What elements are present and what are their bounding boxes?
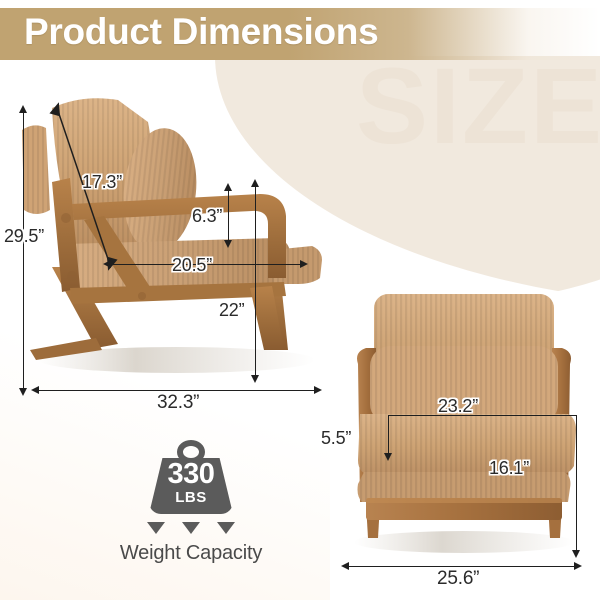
arrowhead-up-armrest-height: [224, 183, 232, 191]
dim-line-seat-width: [388, 415, 576, 416]
dim-label-seat-width: 23.2”: [438, 396, 478, 417]
dim-label-overall-height: 29.5”: [4, 226, 44, 247]
triangle-down-icon: [217, 522, 235, 534]
arrowhead-down-cushion-thickness: [384, 453, 392, 461]
size-watermark: SIZE: [356, 52, 600, 160]
product-dimensions-infographic: SIZE Product Dimensions: [0, 0, 600, 600]
dim-line-armrest-height: [228, 190, 229, 243]
arrowhead-right-overall-width: [574, 562, 582, 570]
arrowhead-up-overall-height: [19, 105, 27, 113]
dim-label-arm-to-floor: 22”: [219, 300, 244, 321]
arrowhead-up-arm-to-floor: [251, 179, 259, 187]
dim-label-seat-depth: 20.5”: [172, 255, 212, 276]
triangle-down-icon: [182, 522, 200, 534]
dim-label-backrest-height: 17.3”: [82, 172, 122, 193]
dim-line-arm-to-floor: [255, 186, 256, 378]
triangle-down-icon: [147, 522, 165, 534]
arrowhead-left-overall-width: [341, 562, 349, 570]
dim-label-seat-height: 16.1”: [489, 458, 529, 479]
arrowhead-right-seat-depth: [300, 260, 308, 268]
dim-label-overall-width: 25.6”: [437, 568, 479, 590]
weight-capacity-block: 330 LBS Weight Capacity: [96, 438, 286, 565]
dim-label-armrest-height: 6.3”: [192, 206, 222, 227]
arrowhead-left-overall-depth: [31, 386, 39, 394]
arrowhead-down-armrest-height: [224, 240, 232, 248]
dim-line-overall-height: [23, 112, 24, 392]
arrowhead-down-seat-height: [572, 550, 580, 558]
dim-label-cushion-thickness: 5.5”: [321, 428, 351, 449]
weight-capacity-value: 330: [143, 460, 239, 489]
arrowhead-right-overall-depth: [314, 386, 322, 394]
arrowhead-down-overall-height: [19, 388, 27, 396]
arrowhead-down-arm-to-floor: [251, 375, 259, 383]
dim-label-overall-depth: 32.3”: [157, 392, 199, 414]
weight-arrows-row: [143, 522, 239, 534]
arrowhead-left-seat-depth: [103, 260, 111, 268]
dim-line-seat-height: [576, 415, 577, 555]
page-title: Product Dimensions: [24, 11, 378, 53]
weight-plate-icon: 330 LBS: [143, 438, 239, 518]
chair-side-view-illustration: [22, 92, 332, 402]
weight-capacity-label: Weight Capacity: [96, 542, 286, 565]
weight-capacity-unit: LBS: [143, 490, 239, 505]
chair-front-view-illustration: [340, 290, 588, 558]
